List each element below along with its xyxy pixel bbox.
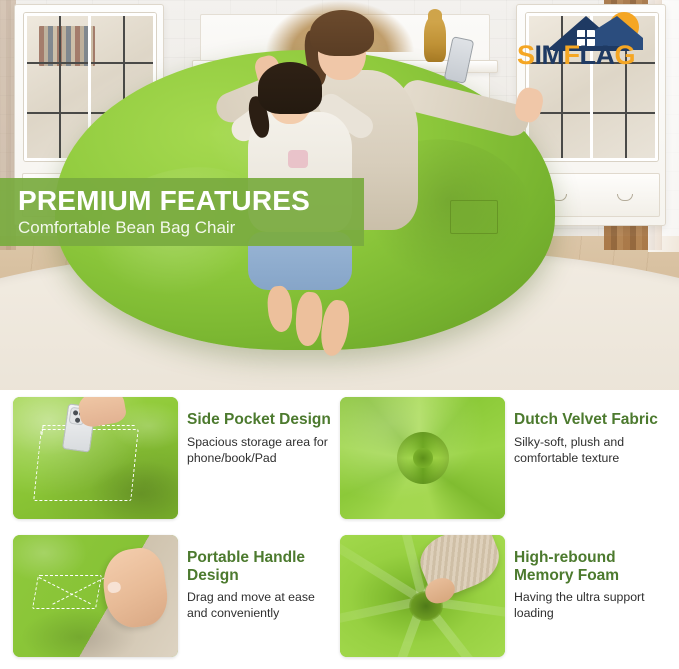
feature-text-memory-foam: High-rebound Memory Foam Having the ultr…: [505, 535, 667, 669]
feature-body: Spacious storage area for phone/book/Pad: [187, 435, 332, 467]
logo-wordmark: SIMFLAG: [517, 42, 669, 69]
hero-image: PREMIUM FEATURES Comfortable Bean Bag Ch…: [0, 0, 679, 390]
feature-thumb-memory-foam: [340, 535, 505, 657]
feature-card-memory-foam: High-rebound Memory Foam Having the ultr…: [340, 535, 667, 669]
feature-card-side-pocket: Side Pocket Design Spacious storage area…: [13, 397, 340, 535]
brand-logo: SIMFLAG: [517, 8, 669, 70]
features-grid: Side Pocket Design Spacious storage area…: [0, 392, 679, 669]
banner-title: PREMIUM FEATURES: [18, 186, 364, 215]
books-on-shelf: [39, 26, 95, 66]
feature-thumb-dutch-velvet: [340, 397, 505, 519]
feature-body: Drag and move at ease and conveniently: [187, 590, 332, 622]
feature-heading: High-rebound Memory Foam: [514, 549, 659, 584]
feature-heading: Dutch Velvet Fabric: [514, 411, 659, 429]
feature-text-side-pocket: Side Pocket Design Spacious storage area…: [178, 397, 340, 535]
feature-thumb-side-pocket: [13, 397, 178, 519]
feature-thumb-portable-handle: [13, 535, 178, 657]
product-feature-page: PREMIUM FEATURES Comfortable Bean Bag Ch…: [0, 0, 679, 669]
hero-banner: PREMIUM FEATURES Comfortable Bean Bag Ch…: [0, 178, 364, 246]
feature-body: Having the ultra support loading: [514, 590, 659, 622]
bean-bag-side-pocket: [450, 200, 498, 234]
feature-body: Silky-soft, plush and comfortable textur…: [514, 435, 659, 467]
feature-card-portable-handle: Portable Handle Design Drag and move at …: [13, 535, 340, 669]
feature-text-portable-handle: Portable Handle Design Drag and move at …: [178, 535, 340, 669]
feature-heading: Portable Handle Design: [187, 549, 332, 584]
features-row-1: Side Pocket Design Spacious storage area…: [13, 397, 669, 535]
features-row-2: Portable Handle Design Drag and move at …: [13, 535, 669, 669]
banner-subtitle: Comfortable Bean Bag Chair: [18, 219, 364, 238]
feature-text-dutch-velvet: Dutch Velvet Fabric Silky-soft, plush an…: [505, 397, 667, 535]
feature-card-dutch-velvet: Dutch Velvet Fabric Silky-soft, plush an…: [340, 397, 667, 535]
gold-vase-icon: [424, 16, 446, 62]
feature-heading: Side Pocket Design: [187, 411, 332, 429]
